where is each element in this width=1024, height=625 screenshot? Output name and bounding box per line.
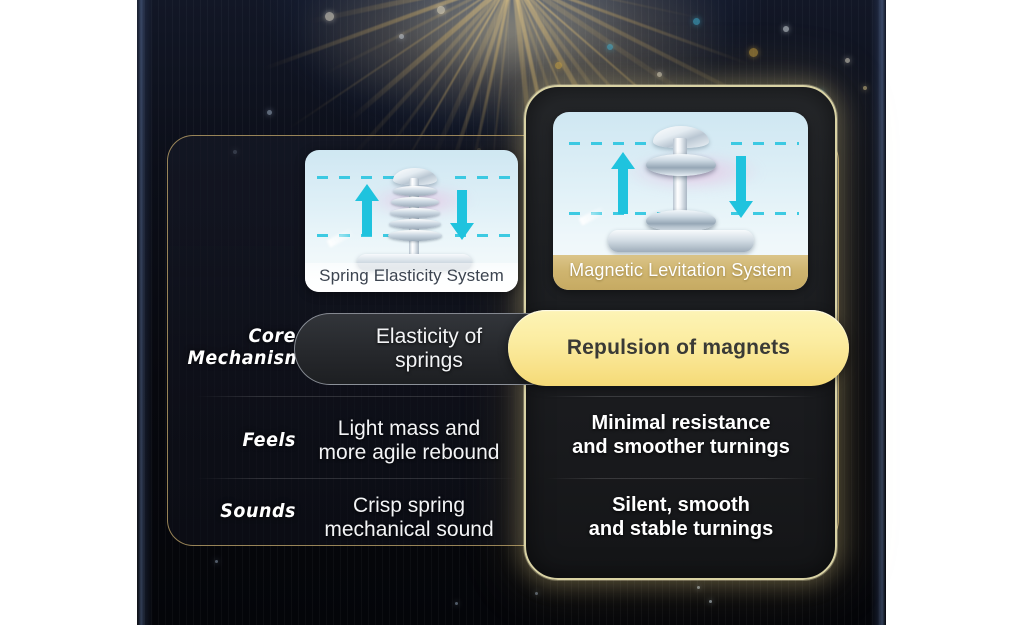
field-line <box>731 142 799 145</box>
light-ray <box>262 0 513 71</box>
row-label-core-mechanism: Core Mechanism <box>187 325 296 370</box>
comparison-graphic: Spring Elasticity System Magnetic Levita… <box>0 0 1024 625</box>
bokeh-dot <box>607 44 613 50</box>
row-divider <box>546 396 816 397</box>
spring-coil <box>388 230 442 241</box>
bokeh-dot <box>437 6 445 14</box>
bokeh-dot <box>555 62 562 69</box>
left-bezel-highlight <box>137 0 153 625</box>
bokeh-dot <box>697 586 700 589</box>
bokeh-dot <box>455 602 458 605</box>
arrow-up-icon <box>355 184 379 236</box>
spring-system-thumbnail[interactable]: Spring Elasticity System <box>305 150 518 292</box>
bokeh-dot <box>657 72 662 77</box>
arrow-down-icon <box>450 190 474 240</box>
lens-flare <box>327 228 354 247</box>
magnet-ring-upper <box>646 154 716 176</box>
bokeh-dot <box>215 560 218 563</box>
spring-coil <box>393 186 437 196</box>
core-mechanism-right-text: Repulsion of magnets <box>508 336 849 360</box>
light-ray <box>322 0 513 76</box>
bokeh-dot <box>693 18 700 25</box>
spring-coil <box>391 197 439 207</box>
spring-coil <box>390 208 440 218</box>
light-ray <box>348 0 515 122</box>
lens-flare <box>579 206 606 225</box>
bokeh-dot <box>863 86 867 90</box>
row-label-line1: Feels <box>187 429 296 451</box>
sounds-right-text: Silent, smooth and stable turnings <box>540 494 822 541</box>
row-label-feels: Feels <box>187 429 296 451</box>
row-label-sounds: Sounds <box>187 500 296 522</box>
bokeh-dot <box>267 110 272 115</box>
bokeh-dot <box>535 592 538 595</box>
spring-coil <box>389 219 441 229</box>
light-ray <box>512 0 708 21</box>
maglev-thumbnail-caption: Magnetic Levitation System <box>553 255 808 290</box>
row-label-line1: Core <box>187 325 296 347</box>
maglev-system-thumbnail[interactable]: Magnetic Levitation System <box>553 112 808 290</box>
field-line <box>455 176 511 179</box>
bokeh-dot <box>845 58 850 63</box>
row-label-line2: Mechanism <box>187 347 296 369</box>
bokeh-dot <box>783 26 789 32</box>
row-divider <box>546 478 816 479</box>
spring-thumbnail-caption: Spring Elasticity System <box>305 263 518 292</box>
magnet-ring-lower <box>646 210 716 232</box>
sounds-left-text: Crisp spring mechanical sound <box>300 494 518 542</box>
arrow-down-icon <box>729 156 753 218</box>
core-mechanism-right-pill[interactable]: Repulsion of magnets <box>508 310 849 386</box>
row-divider <box>196 396 516 397</box>
field-line <box>317 176 395 179</box>
row-divider <box>196 478 516 479</box>
feels-left-text: Light mass and more agile rebound <box>300 417 518 465</box>
arrow-up-icon <box>611 152 635 214</box>
feels-right-text: Minimal resistance and smoother turnings <box>540 412 822 459</box>
bokeh-dot <box>325 12 334 21</box>
row-label-line1: Sounds <box>187 500 296 522</box>
right-bezel-highlight <box>870 0 886 625</box>
field-line <box>569 142 661 145</box>
bokeh-dot <box>709 600 712 603</box>
light-ray <box>309 0 514 24</box>
switch-base <box>608 230 754 252</box>
light-ray <box>288 0 513 130</box>
light-ray <box>512 0 751 66</box>
bokeh-dot <box>399 34 404 39</box>
bokeh-dot <box>749 48 758 57</box>
